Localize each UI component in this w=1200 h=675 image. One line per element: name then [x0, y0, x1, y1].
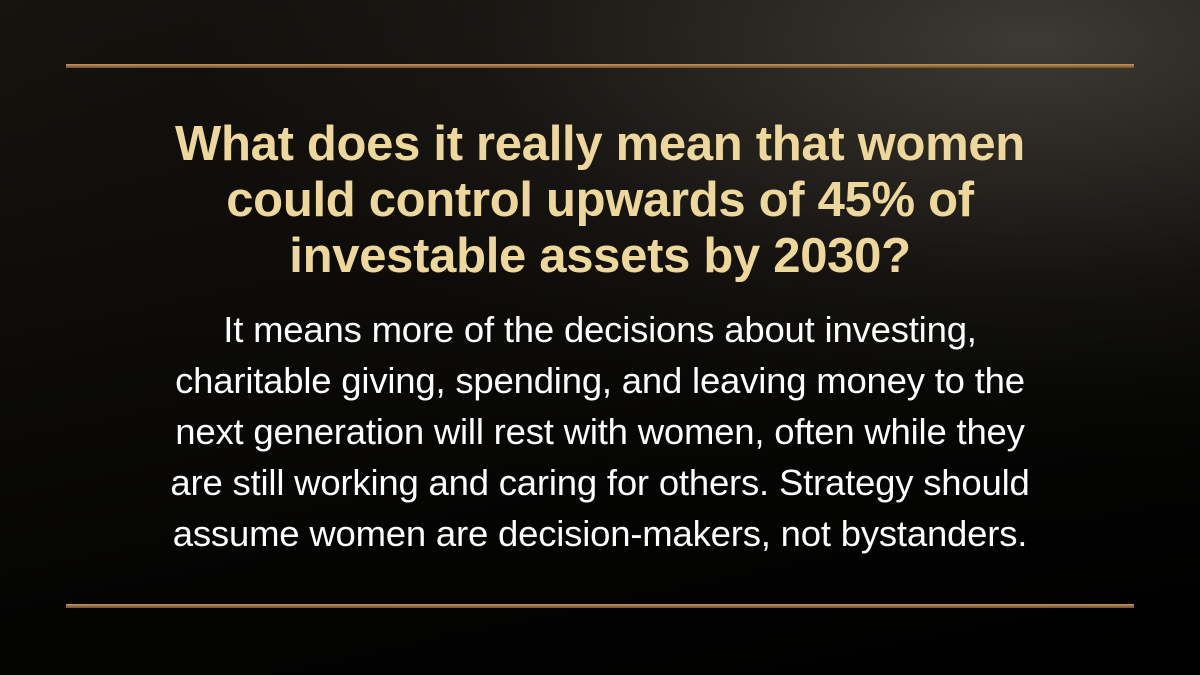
- body-copy: It means more of the decisions about inv…: [0, 304, 1200, 559]
- headline-line-2: could control upwards of 45% of: [60, 172, 1140, 228]
- body-line-4: are still working and caring for others.…: [78, 457, 1122, 508]
- body-line-3: next generation will rest with women, of…: [78, 406, 1122, 457]
- body-line-1: It means more of the decisions about inv…: [78, 304, 1122, 355]
- card-content: What does it really mean that women coul…: [0, 0, 1200, 675]
- body-line-2: charitable giving, spending, and leaving…: [78, 355, 1122, 406]
- body-line-5: assume women are decision-makers, not by…: [78, 508, 1122, 559]
- quote-card: What does it really mean that women coul…: [0, 0, 1200, 675]
- headline-line-3: investable assets by 2030?: [60, 228, 1140, 284]
- headline: What does it really mean that women coul…: [0, 116, 1200, 284]
- headline-line-1: What does it really mean that women: [60, 116, 1140, 172]
- bottom-divider-rule: [66, 604, 1134, 608]
